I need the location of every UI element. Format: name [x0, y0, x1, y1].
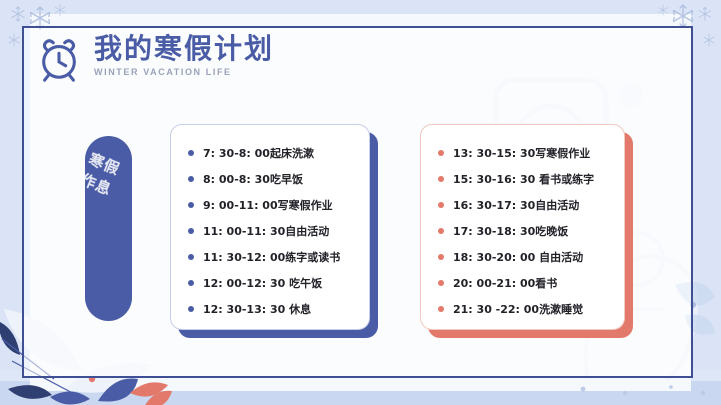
bullet-icon — [438, 254, 444, 260]
list-item[interactable]: 12: 30-13: 30 休息 — [185, 296, 355, 322]
bullet-icon — [188, 254, 194, 260]
bullet-icon — [438, 150, 444, 156]
list-item[interactable]: 12: 00-12: 30 吃午饭 — [185, 270, 355, 296]
afternoon-schedule-card[interactable]: 13: 30-15: 30写寒假作业 15: 30-16: 30 看书或练字 1… — [420, 124, 625, 330]
bullet-icon — [188, 176, 194, 182]
list-item[interactable]: 17: 30-18: 30吃晚饭 — [435, 218, 610, 244]
list-item[interactable]: 8: 00-8: 30吃早饭 — [185, 166, 355, 192]
list-item-label: 8: 00-8: 30吃早饭 — [203, 171, 303, 187]
list-item[interactable]: 15: 30-16: 30 看书或练字 — [435, 166, 610, 192]
bullet-icon — [188, 150, 194, 156]
vertical-tab-winter-schedule[interactable]: 寒假作息 — [85, 136, 132, 321]
bullet-icon — [438, 306, 444, 312]
bullet-icon — [188, 306, 194, 312]
list-item-label: 20: 00-21: 00看书 — [453, 275, 557, 291]
list-item[interactable]: 20: 00-21: 00看书 — [435, 270, 610, 296]
page-title: 我的寒假计划 — [94, 34, 274, 63]
list-item-label: 9: 00-11: 00写寒假作业 — [203, 197, 333, 213]
list-item[interactable]: 11: 30-12: 00练字或读书 — [185, 244, 355, 270]
alarm-clock-icon — [36, 37, 82, 83]
list-item-label: 15: 30-16: 30 看书或练字 — [453, 171, 594, 187]
list-item-label: 11: 30-12: 00练字或读书 — [203, 249, 340, 265]
list-item-label: 17: 30-18: 30吃晚饭 — [453, 223, 568, 239]
vertical-tab-label: 寒假作息 — [85, 145, 130, 203]
page-subtitle: WINTER VACATION LIFE — [94, 67, 274, 77]
bullet-icon — [188, 228, 194, 234]
list-item[interactable]: 7: 30-8: 00起床洗漱 — [185, 140, 355, 166]
list-item-label: 12: 00-12: 30 吃午饭 — [203, 275, 322, 291]
bullet-icon — [438, 176, 444, 182]
list-item-label: 13: 30-15: 30写寒假作业 — [453, 145, 590, 161]
list-item-label: 11: 00-11: 30自由活动 — [203, 223, 329, 239]
list-item-label: 18: 30-20: 00 自由活动 — [453, 249, 583, 265]
list-item-label: 16: 30-17: 30自由活动 — [453, 197, 579, 213]
list-item-label: 12: 30-13: 30 休息 — [203, 301, 311, 317]
page-header: 我的寒假计划 WINTER VACATION LIFE — [36, 34, 274, 83]
bullet-icon — [188, 202, 194, 208]
bullet-icon — [438, 280, 444, 286]
list-item[interactable]: 21: 30 -22: 00洗漱睡觉 — [435, 296, 610, 322]
list-item-label: 7: 30-8: 00起床洗漱 — [203, 145, 314, 161]
bullet-icon — [188, 280, 194, 286]
list-item[interactable]: 9: 00-11: 00写寒假作业 — [185, 192, 355, 218]
bullet-icon — [438, 202, 444, 208]
list-item[interactable]: 11: 00-11: 30自由活动 — [185, 218, 355, 244]
morning-schedule-list: 7: 30-8: 00起床洗漱 8: 00-8: 30吃早饭 9: 00-11:… — [185, 140, 355, 322]
bullet-icon — [438, 228, 444, 234]
list-item[interactable]: 13: 30-15: 30写寒假作业 — [435, 140, 610, 166]
list-item-label: 21: 30 -22: 00洗漱睡觉 — [453, 301, 583, 317]
afternoon-schedule-list: 13: 30-15: 30写寒假作业 15: 30-16: 30 看书或练字 1… — [435, 140, 610, 322]
list-item[interactable]: 18: 30-20: 00 自由活动 — [435, 244, 610, 270]
list-item[interactable]: 16: 30-17: 30自由活动 — [435, 192, 610, 218]
morning-schedule-card[interactable]: 7: 30-8: 00起床洗漱 8: 00-8: 30吃早饭 9: 00-11:… — [170, 124, 370, 330]
slide-canvas: 我的寒假计划 WINTER VACATION LIFE 寒假作息 7: 30-8… — [0, 0, 721, 405]
